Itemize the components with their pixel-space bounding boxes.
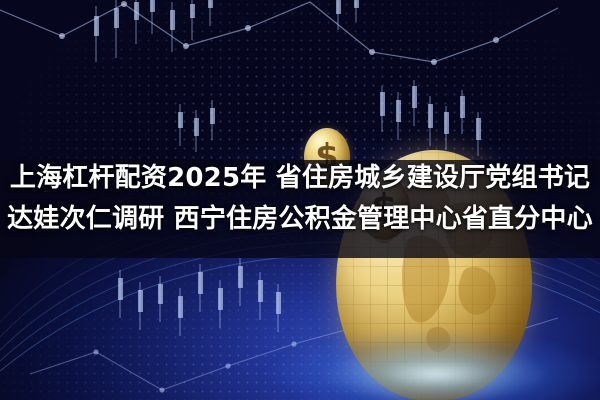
finance-banner: $ $ 上海杠杆配资2025年 省住房城乡建设厅党组书记达娃次仁调研 西宁住房公… bbox=[0, 0, 600, 400]
candlestick-bar bbox=[208, 0, 213, 26]
candlestick-bar bbox=[444, 106, 449, 150]
candlestick-bar bbox=[158, 276, 163, 322]
candlestick-body bbox=[396, 100, 401, 122]
candlestick-body bbox=[460, 96, 465, 118]
candlestick-bar bbox=[190, 0, 195, 40]
candlestick-body bbox=[178, 296, 183, 318]
candlestick-body bbox=[218, 288, 223, 310]
candlestick-body bbox=[194, 118, 199, 136]
candlestick-body bbox=[118, 278, 123, 300]
candlestick-body bbox=[444, 112, 449, 134]
candlestick-bar bbox=[194, 110, 199, 152]
candlestick-body bbox=[276, 292, 281, 314]
candlestick-bar bbox=[170, 2, 175, 52]
candlestick-body bbox=[150, 0, 155, 12]
candlestick-body bbox=[198, 272, 203, 294]
globe-light-glow bbox=[216, 326, 600, 400]
candlestick-bar bbox=[178, 288, 183, 336]
candlestick-bar bbox=[150, 0, 155, 34]
candlestick-bar bbox=[396, 92, 401, 140]
candlestick-body bbox=[178, 112, 183, 128]
candlestick-body bbox=[170, 10, 175, 30]
candlestick-bar bbox=[460, 90, 465, 134]
candlestick-bar bbox=[336, 0, 341, 30]
banner-caption: 上海杠杆配资2025年 省住房城乡建设厅党组书记达娃次仁调研 西宁住房公积金管理… bbox=[0, 158, 600, 240]
candlestick-body bbox=[258, 280, 263, 302]
candlestick-bar bbox=[276, 284, 281, 332]
candlestick-bar bbox=[134, 0, 139, 44]
candlestick-bar bbox=[94, 6, 99, 62]
candlestick-bar bbox=[218, 280, 223, 328]
candlestick-bar bbox=[118, 270, 123, 318]
candlestick-body bbox=[94, 16, 99, 36]
candlestick-body bbox=[336, 0, 341, 14]
candlestick-bar bbox=[354, 0, 359, 22]
candlestick-bar bbox=[238, 258, 243, 306]
candlestick-body bbox=[158, 284, 163, 304]
candlestick-body bbox=[190, 4, 195, 18]
candlestick-bar bbox=[178, 104, 183, 146]
candlestick-body bbox=[114, 8, 119, 28]
candlestick-body bbox=[208, 0, 213, 8]
candlestick-bar bbox=[138, 282, 143, 330]
candlestick-bar bbox=[428, 96, 433, 146]
candlestick-body bbox=[354, 0, 359, 8]
candlestick-body bbox=[428, 104, 433, 128]
candlestick-body bbox=[412, 86, 417, 108]
candlestick-body bbox=[476, 118, 481, 140]
candlestick-bar bbox=[210, 100, 215, 140]
candlestick-bar bbox=[258, 272, 263, 320]
candlestick-body bbox=[238, 266, 243, 288]
candlestick-bar bbox=[198, 264, 203, 312]
candlestick-body bbox=[210, 108, 215, 124]
candlestick-bar bbox=[114, 0, 119, 58]
candlestick-bar bbox=[380, 86, 385, 132]
candlestick-body bbox=[134, 2, 139, 20]
candlestick-body bbox=[138, 290, 143, 312]
candlestick-body bbox=[380, 92, 385, 116]
candlestick-bar bbox=[412, 80, 417, 126]
